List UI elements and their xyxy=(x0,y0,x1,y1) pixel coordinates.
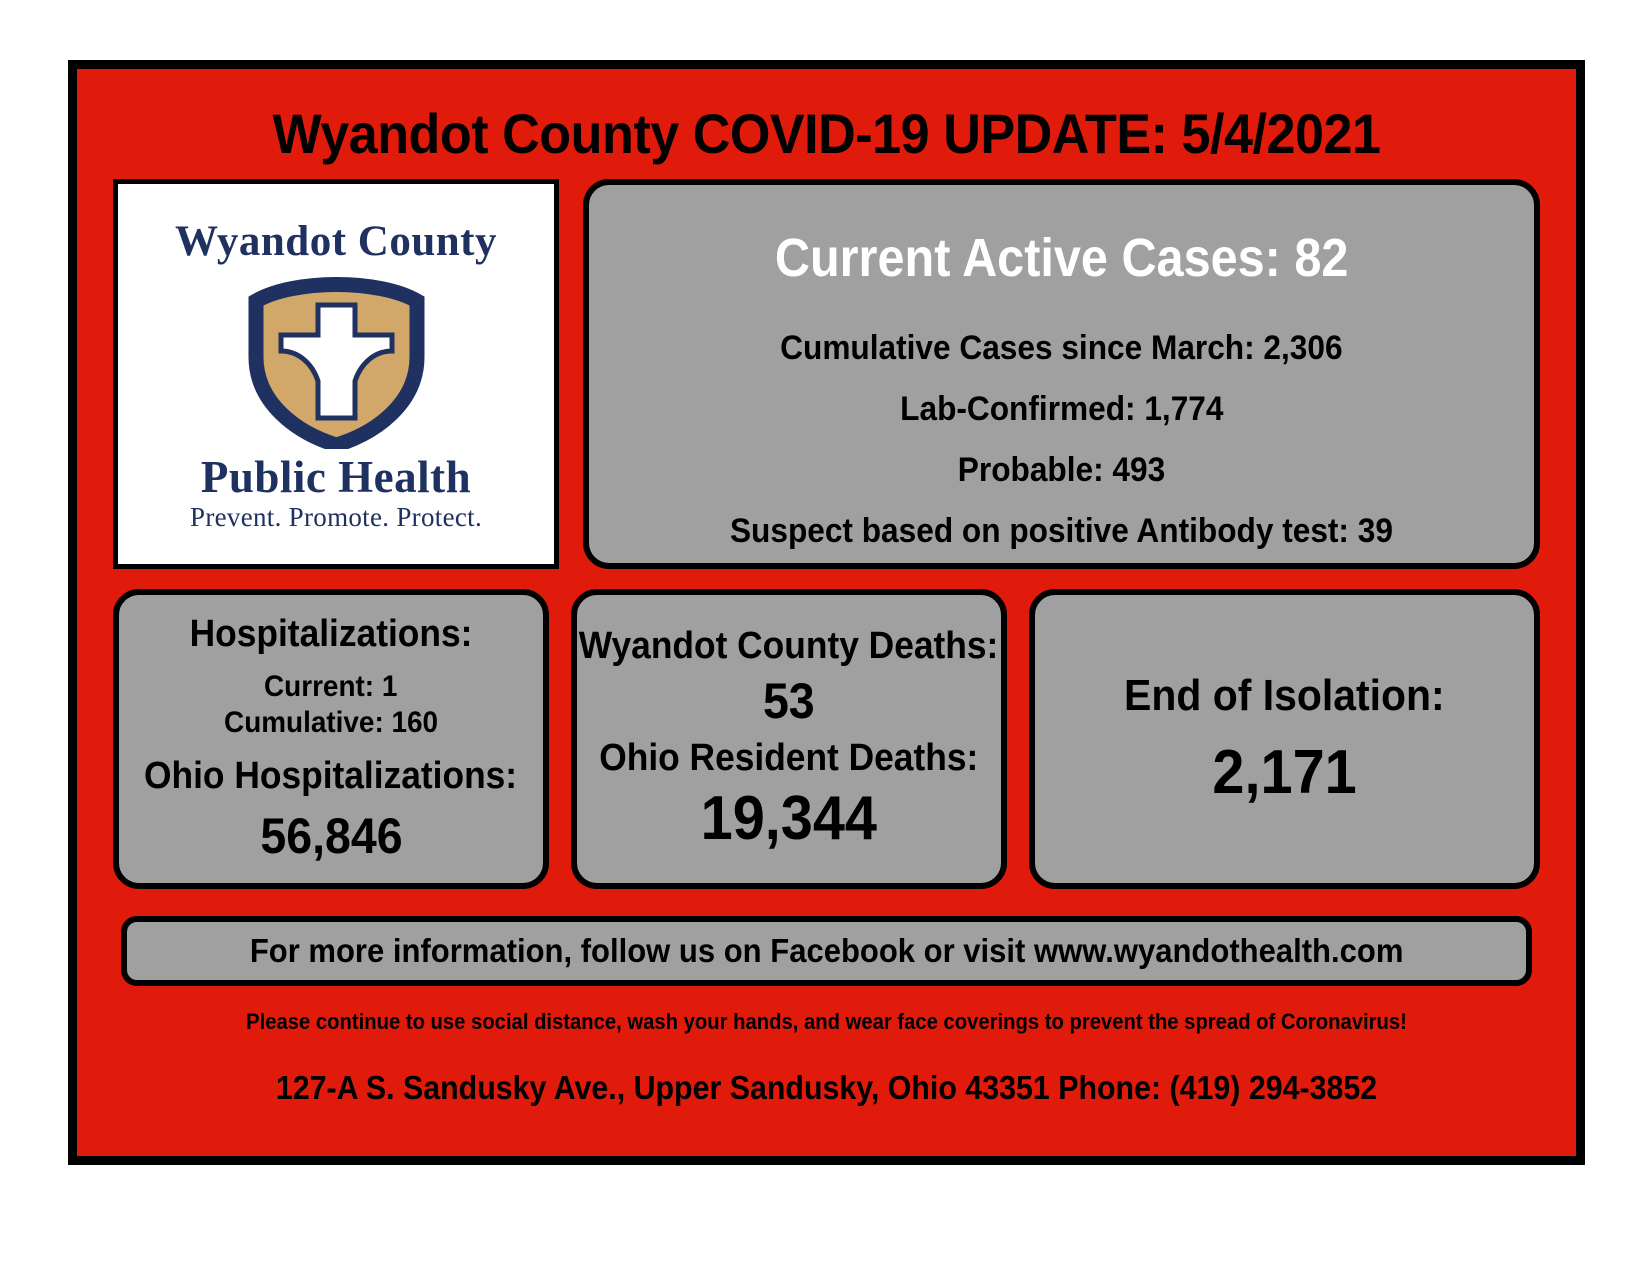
deaths-card: Wyandot County Deaths: 53 Ohio Resident … xyxy=(571,589,1007,889)
covid-update-poster: Wyandot County COVID-19 UPDATE: 5/4/2021… xyxy=(68,60,1585,1165)
end-of-isolation-value: 2,171 xyxy=(1212,739,1356,807)
active-cases-headline: Current Active Cases: 82 xyxy=(775,227,1349,289)
logo-tagline: Prevent. Promote. Protect. xyxy=(190,504,482,531)
hospitalizations-title: Hospitalizations: xyxy=(190,613,473,656)
precaution-note: Please continue to use social distance, … xyxy=(137,1009,1516,1035)
hospitalizations-current: Current: 1 xyxy=(264,669,397,705)
ohio-hospitalizations-value: 56,846 xyxy=(260,808,402,866)
poster-root: Wyandot County COVID-19 UPDATE: 5/4/2021… xyxy=(0,0,1650,1275)
lab-confirmed-line: Lab-Confirmed: 1,774 xyxy=(900,390,1223,429)
hospitalizations-cumulative: Cumulative: 160 xyxy=(224,705,438,741)
logo-top-line: Wyandot County xyxy=(175,220,497,263)
antibody-suspect-line: Suspect based on positive Antibody test:… xyxy=(730,512,1393,551)
hospitalizations-card: Hospitalizations: Current: 1 Cumulative:… xyxy=(113,589,549,889)
cumulative-cases-line: Cumulative Cases since March: 2,306 xyxy=(780,329,1342,368)
county-deaths-value: 53 xyxy=(763,673,815,731)
ohio-hospitalizations-label: Ohio Hospitalizations: xyxy=(144,755,517,798)
logo-mid-line: Public Health xyxy=(201,455,471,500)
stats-row: Hospitalizations: Current: 1 Cumulative:… xyxy=(113,589,1540,889)
probable-line: Probable: 493 xyxy=(958,451,1165,490)
top-row: Wyandot County Public Health Prevent. Pr… xyxy=(113,179,1540,569)
ohio-deaths-value: 19,344 xyxy=(701,785,877,853)
page-title: Wyandot County COVID-19 UPDATE: 5/4/2021 xyxy=(129,101,1523,166)
ohio-deaths-label: Ohio Resident Deaths: xyxy=(600,737,979,780)
address-phone-note: 127-A S. Sandusky Ave., Upper Sandusky, … xyxy=(137,1069,1516,1107)
shield-cross-icon xyxy=(244,271,429,449)
agency-logo-card: Wyandot County Public Health Prevent. Pr… xyxy=(113,179,559,569)
more-information-bar[interactable]: For more information, follow us on Faceb… xyxy=(121,916,1532,986)
end-of-isolation-card: End of Isolation: 2,171 xyxy=(1029,589,1540,889)
county-deaths-label: Wyandot County Deaths: xyxy=(579,625,999,668)
end-of-isolation-label: End of Isolation: xyxy=(1124,671,1445,721)
more-information-text: For more information, follow us on Faceb… xyxy=(250,932,1404,970)
active-cases-card: Current Active Cases: 82 Cumulative Case… xyxy=(583,179,1540,569)
